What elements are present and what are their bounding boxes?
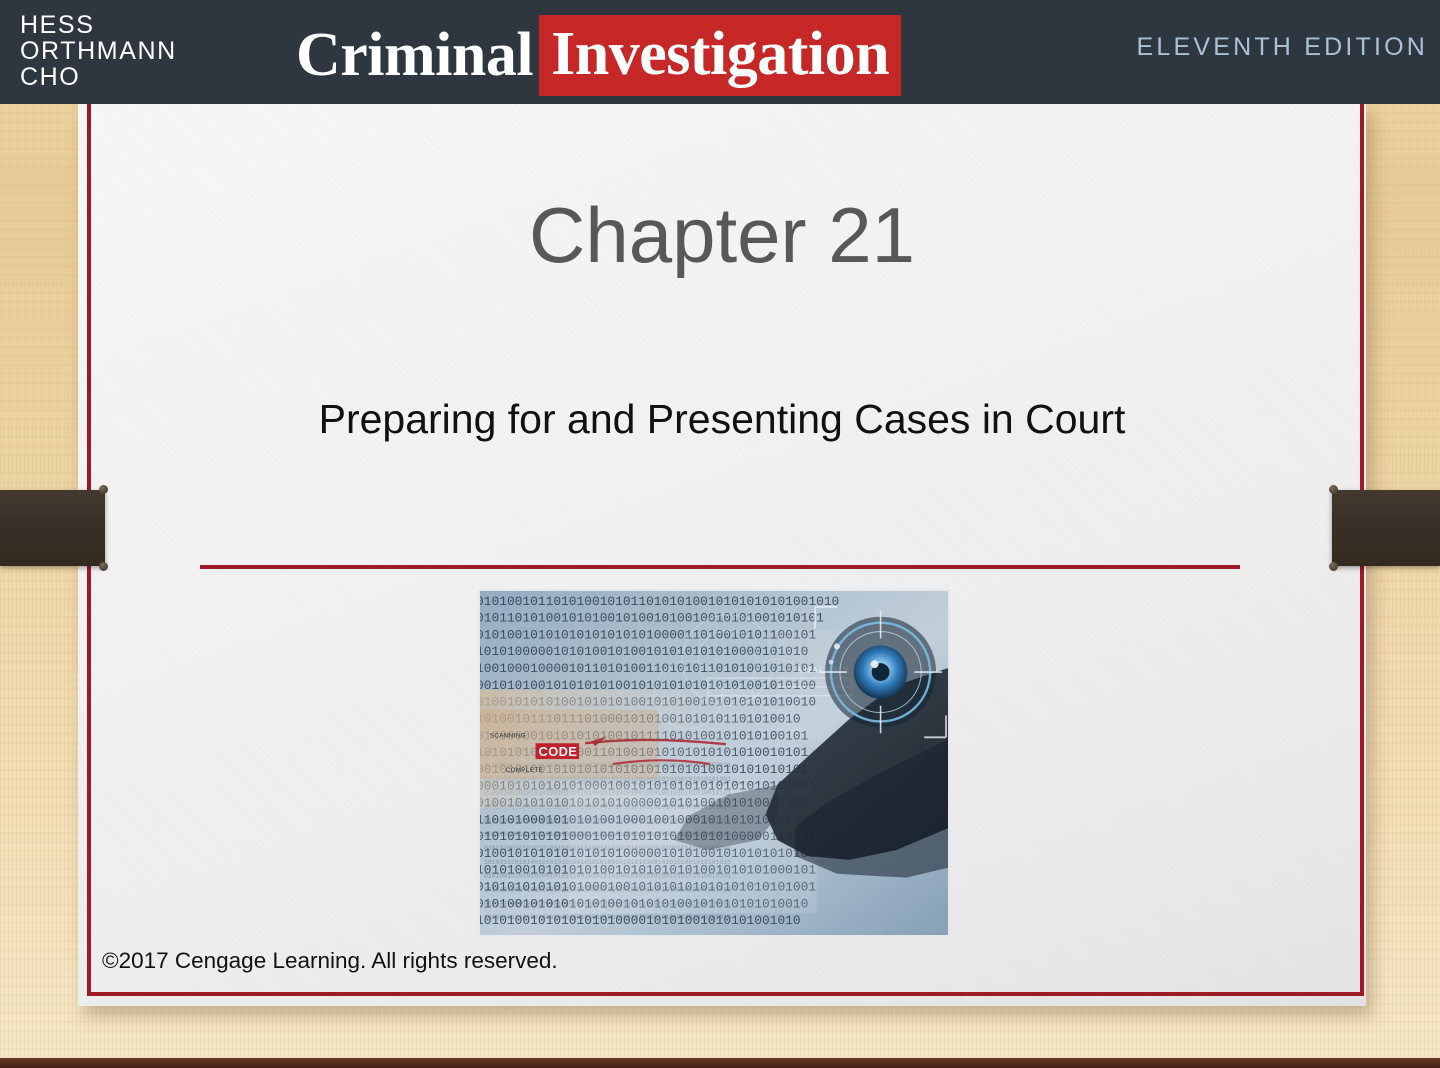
author-list: HESS ORTHMANN CHO (20, 12, 177, 90)
clamp-stud-icon (1329, 485, 1338, 494)
bottom-accent-strip (0, 1058, 1440, 1068)
book-title-part-one: Criminal (296, 20, 539, 91)
book-title: Criminal Investigation (296, 11, 901, 99)
chapter-title: Chapter 21 (78, 190, 1366, 281)
slide-panel: Chapter 21 Preparing for and Presenting … (78, 104, 1366, 1006)
clamp-stud-icon (99, 562, 108, 571)
frame-clamp-right (1332, 490, 1440, 566)
author-name: HESS (20, 12, 177, 38)
clamp-stud-icon (99, 485, 108, 494)
forensic-binary-artwork: 0101001011010100101011010101001010101010… (480, 591, 948, 935)
book-title-part-two: Investigation (539, 15, 901, 96)
chapter-cover-image: 0101001011010100101011010101001010101010… (478, 589, 950, 937)
frame-clamp-left (0, 490, 105, 566)
author-name: ORTHMANN (20, 38, 177, 64)
clamp-stud-icon (1329, 562, 1338, 571)
chapter-subtitle: Preparing for and Presenting Cases in Co… (78, 396, 1366, 443)
author-name: CHO (20, 64, 177, 90)
book-header-band: HESS ORTHMANN CHO Criminal Investigation… (0, 0, 1440, 104)
edition-label: ELEVENTH EDITION (1136, 33, 1428, 62)
copyright-notice: ©2017 Cengage Learning. All rights reser… (102, 948, 558, 974)
section-divider (200, 565, 1240, 569)
